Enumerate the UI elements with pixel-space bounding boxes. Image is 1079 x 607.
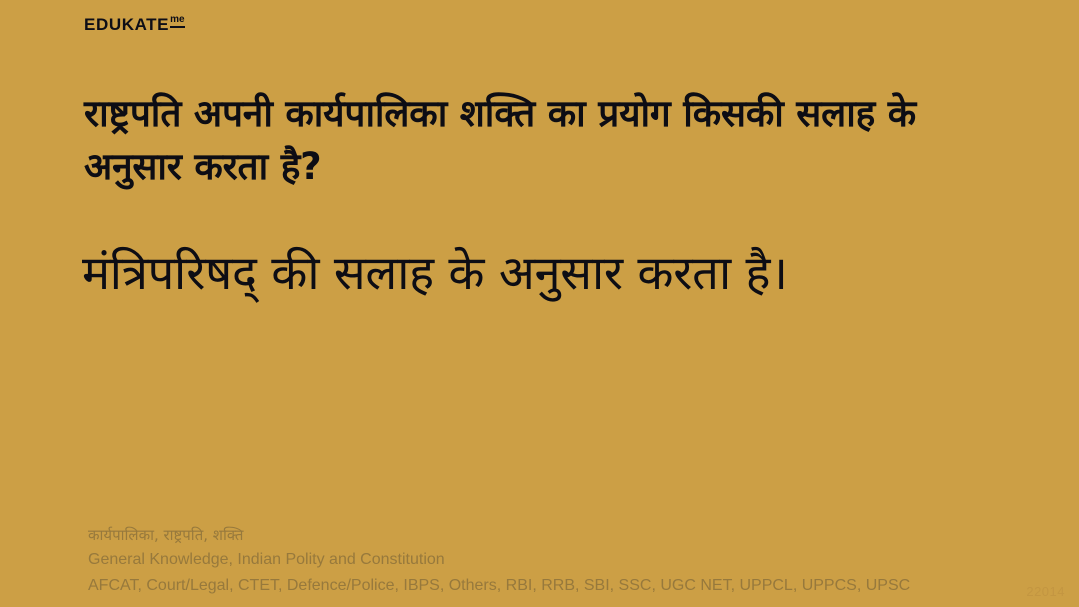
logo-wordmark: EDUKATE [84, 16, 169, 33]
edukate-logo[interactable]: EDUKATE me [84, 16, 185, 33]
footer: कार्यपालिका, राष्ट्रपति, शक्ति General K… [88, 523, 1048, 599]
footer-exam-list: AFCAT, Court/Legal, CTET, Defence/Police… [88, 573, 1048, 599]
slide-canvas: EDUKATE me राष्ट्रपति अपनी कार्यपालिका श… [0, 0, 1079, 607]
question-text: राष्ट्रपति अपनी कार्यपालिका शक्ति का प्र… [84, 88, 984, 193]
logo-superscript-me: me [170, 15, 184, 28]
footer-keyword-tags: कार्यपालिका, राष्ट्रपति, शक्ति [88, 523, 1048, 547]
slide-watermark: 22014 [1026, 584, 1065, 599]
answer-text: मंत्रिपरिषद् की सलाह के अनुसार करता है। [82, 243, 1032, 305]
footer-subject-line: General Knowledge, Indian Polity and Con… [88, 547, 1048, 573]
